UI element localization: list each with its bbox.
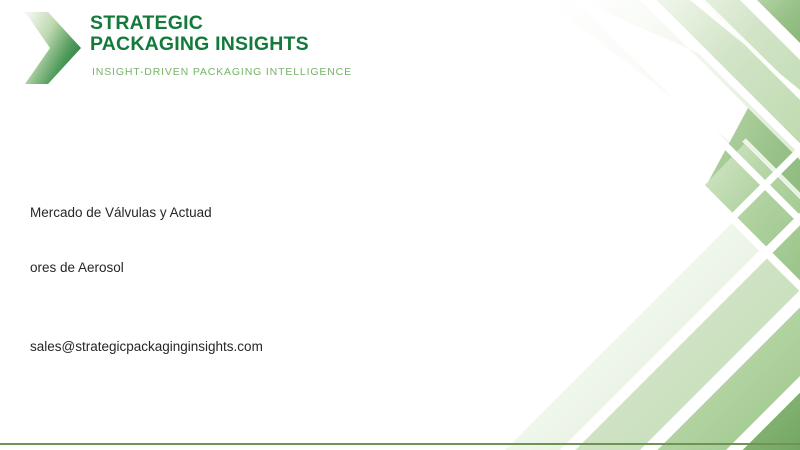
bottom-divider-rule	[0, 443, 800, 445]
slide-body-copy: Mercado de Válvulas y Actuad ores de Aer…	[30, 205, 263, 355]
contact-email: sales@strategicpackaginginsights.com	[30, 339, 263, 355]
brand-name-line-1: STRATEGIC	[90, 13, 352, 34]
chevron-logo-mark	[22, 10, 84, 86]
brand-name-line-2: PACKAGING INSIGHTS	[90, 34, 352, 55]
report-title-line-1: Mercado de Válvulas y Actuad	[30, 205, 263, 221]
brand-tagline: INSIGHT-DRIVEN PACKAGING INTELLIGENCE	[92, 66, 352, 78]
report-title-line-2: ores de Aerosol	[30, 260, 263, 276]
brand-logo: STRATEGIC PACKAGING INSIGHTS INSIGHT-DRI…	[22, 8, 352, 86]
title-slide: STRATEGIC PACKAGING INSIGHTS INSIGHT-DRI…	[0, 0, 800, 450]
brand-logo-text: STRATEGIC PACKAGING INSIGHTS INSIGHT-DRI…	[90, 8, 352, 78]
